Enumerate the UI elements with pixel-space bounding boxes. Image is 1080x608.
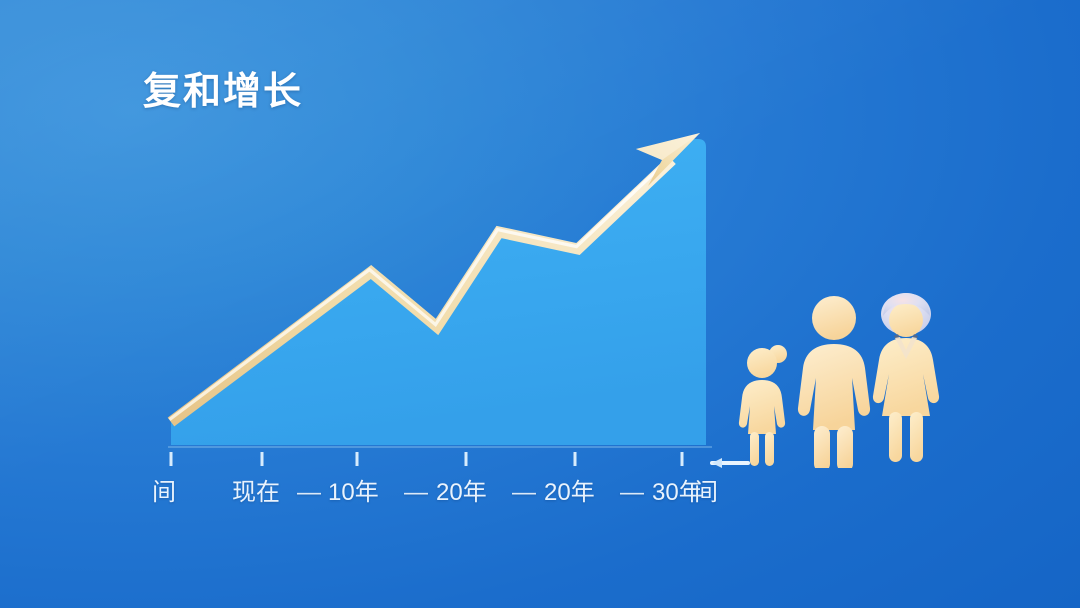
axis-label-start: 间 [152, 478, 176, 508]
axis-label-10y: 10年 [328, 478, 379, 508]
axis-label-end: 间 [694, 478, 718, 508]
x-axis [168, 447, 748, 468]
axis-label-20y-a: 20年 [436, 478, 487, 508]
people-group [726, 268, 956, 468]
elder-head [889, 303, 923, 337]
axis-dash-1: — [297, 478, 321, 508]
slide-canvas: 复和增长 [0, 0, 1080, 608]
child-leg-left [750, 432, 759, 466]
axis-dash-3: — [512, 478, 536, 508]
axis-dash-2: — [404, 478, 428, 508]
elder-figure [873, 293, 939, 462]
child-figure [739, 345, 787, 466]
chart-area-fill [171, 139, 706, 445]
elder-body [873, 338, 939, 416]
elder-leg-right [910, 412, 923, 462]
axis-label-now: 现在 [232, 478, 280, 508]
adult-body [798, 344, 870, 430]
adult-leg-left [814, 426, 830, 468]
child-head [747, 348, 777, 378]
axis-label-20y-b: 20年 [544, 478, 595, 508]
child-body [739, 380, 785, 434]
adult-head [812, 296, 856, 340]
elder-leg-left [889, 412, 902, 462]
adult-leg-right [837, 426, 853, 468]
axis-tick-labels: 间 现在 — 10年 — 20年 — 20年 — 30年 间 [0, 478, 1080, 512]
adult-figure [798, 296, 870, 468]
child-leg-right [765, 432, 774, 466]
axis-dash-4: — [620, 478, 644, 508]
